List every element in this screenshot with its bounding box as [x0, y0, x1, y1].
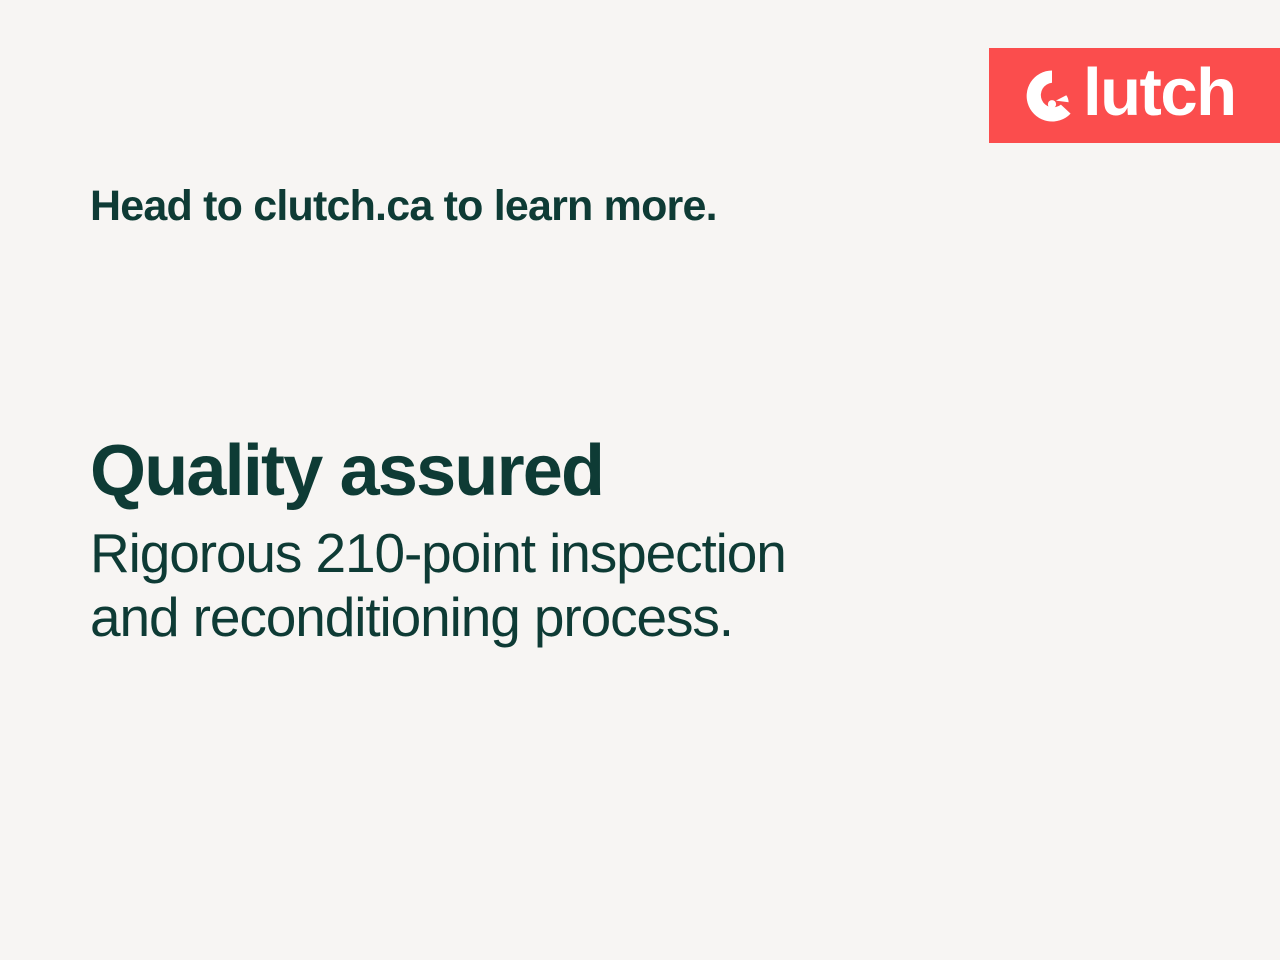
clutch-c-wheel-icon — [1025, 69, 1079, 123]
brand-badge[interactable]: lutch — [989, 48, 1280, 143]
clutch-wordmark-text: lutch — [1083, 59, 1236, 126]
clutch-wordmark: lutch — [1025, 65, 1236, 127]
page-title: Quality assured — [90, 433, 1070, 511]
slide-canvas: lutch Head to clutch.ca to learn more. Q… — [0, 0, 1280, 960]
subheadline-line-2: and reconditioning process. — [90, 585, 1070, 649]
lead-line: Head to clutch.ca to learn more. — [90, 182, 717, 231]
subheadline-line-1: Rigorous 210-point inspection — [90, 521, 1070, 585]
subheadline: Rigorous 210-point inspection and recond… — [90, 521, 1070, 650]
main-content: Quality assured Rigorous 210-point inspe… — [90, 433, 1070, 649]
